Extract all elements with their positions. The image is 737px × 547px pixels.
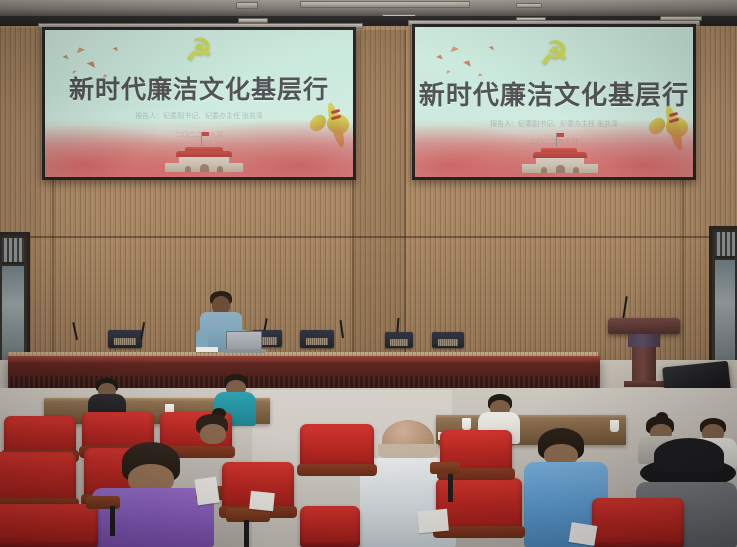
attendee-black-hat (654, 438, 724, 472)
podium-neck (628, 334, 660, 347)
presenter-laptop-screen (226, 331, 262, 350)
presenter-papers (196, 347, 218, 352)
chair-armrest (430, 462, 460, 474)
conference-hall-photo: ☭ 新时代廉洁文化基层行 报告人：纪委副书记、纪委办主任 张兆泽 二〇二二年九月 (0, 0, 737, 547)
dove-icon (445, 69, 451, 74)
wall-seam (52, 180, 54, 370)
party-emblem-icon: ☭ (45, 36, 353, 66)
desk-microphone-unit (432, 332, 464, 348)
auditorium-chair[interactable] (0, 452, 76, 504)
handout-paper (249, 491, 275, 511)
head-table-top-edge (8, 356, 600, 362)
auditorium-chair[interactable] (4, 416, 76, 456)
chair-leg (110, 506, 115, 536)
microphone-grill (306, 338, 328, 346)
national-flag (202, 132, 209, 136)
auditorium-chair[interactable] (592, 498, 684, 547)
left-slide-title: 新时代廉洁文化基层行 (45, 70, 353, 106)
podium-foot (624, 381, 664, 387)
microphone-grill (438, 339, 459, 346)
handout-paper (194, 477, 219, 506)
door-grill (2, 238, 24, 264)
party-emblem-icon: ☭ (415, 37, 693, 69)
wall-seam (682, 180, 684, 370)
right-slide-title: 新时代廉洁文化基层行 (415, 75, 693, 112)
microphone-grill (390, 339, 408, 346)
tiananmen-arch (217, 166, 223, 172)
presenter-laptop-base (222, 349, 266, 353)
chair-backrest (0, 504, 98, 547)
wall-seam (404, 30, 406, 370)
podium-column (632, 347, 656, 383)
tiananmen-arch (556, 165, 565, 173)
tiananmen-arch (541, 167, 547, 173)
paper-cup (610, 420, 619, 432)
microphone-grill (114, 338, 136, 346)
chair-backrest (300, 506, 360, 547)
tiananmen-arch (573, 167, 579, 173)
ceiling-air-vent (516, 3, 542, 8)
auditorium-chair[interactable] (0, 504, 98, 547)
chair-wood-frame (297, 464, 377, 476)
paper-cup (462, 418, 471, 430)
handout-paper (417, 509, 449, 534)
left-projection-screen: ☭ 新时代廉洁文化基层行 报告人：纪委副书记、纪委办主任 张兆泽 二〇二二年九月 (45, 30, 353, 177)
door-grill (715, 232, 735, 258)
national-flag (557, 133, 564, 137)
left-screen-frame: ☭ 新时代廉洁文化基层行 报告人：纪委副书记、纪委办主任 张兆泽 二〇二二年九月 (42, 27, 356, 180)
chair-backrest (592, 498, 684, 547)
right-screen-frame: ☭ 新时代廉洁文化基层行 报告人：纪委副书记、纪委办主任 张兆泽 二〇二二年九月 (412, 24, 696, 180)
podium-top (608, 318, 680, 334)
handout-paper (569, 522, 598, 546)
chair-leg (448, 474, 453, 502)
attendee-head (200, 424, 226, 444)
desk-microphone-unit (300, 330, 334, 348)
tiananmen-arch (185, 166, 191, 172)
auditorium-chair[interactable] (300, 506, 360, 547)
chair-leg (244, 520, 249, 547)
chair-backrest (0, 452, 76, 504)
auditorium-chair[interactable] (300, 424, 374, 470)
wall-shadow-panel (352, 30, 404, 370)
right-projection-screen: ☭ 新时代廉洁文化基层行 报告人：纪委副书记、纪委办主任 张兆泽 二〇二二年九月 (415, 27, 693, 177)
desk-microphone-unit (108, 330, 142, 348)
ceiling-air-vent (236, 2, 258, 9)
desk-microphone-unit (385, 332, 413, 348)
tiananmen-arch (200, 164, 209, 172)
ceiling-air-vent (300, 1, 470, 8)
